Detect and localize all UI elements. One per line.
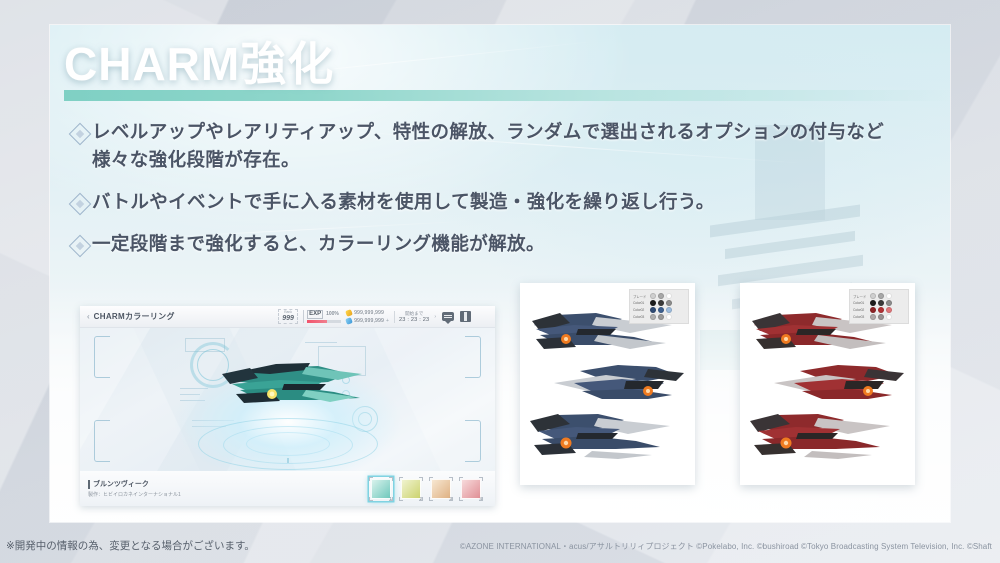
concept-card-blue: ブレード Color01 Color02 Color03 [520, 283, 695, 485]
game-ui-screenshot: ‹ CHARMカラーリング Rank 999 EXP 100% [80, 306, 495, 506]
header-status-group: Rank 999 EXP 100% 999,999,999 [278, 309, 490, 324]
rank-value: 999 [282, 315, 294, 322]
unit-info: ブルンツヴィーク 製作：ヒビイロカネインターナショナル1 [88, 479, 181, 498]
currency-value: 999,999,999 [354, 318, 384, 324]
palette-row: ブレード [853, 293, 905, 299]
palette-label: Color02 [633, 308, 648, 312]
palette-dot [650, 300, 656, 306]
palette-dot [666, 293, 672, 299]
chat-icon[interactable] [441, 311, 454, 322]
unit-accent-bar [88, 480, 90, 489]
palette-row: Color02 [853, 307, 905, 313]
palette-dot [886, 314, 892, 320]
hud-bracket [94, 420, 110, 462]
palette-label: Color03 [853, 315, 868, 319]
palette-dot [870, 314, 876, 320]
event-timer: 開始まで 23 : 23 : 23 [394, 311, 429, 323]
mech-render-red-mid [772, 361, 912, 409]
palette-dot [658, 314, 664, 320]
exp-meter: EXP 100% [303, 310, 341, 324]
game-header-bar: ‹ CHARMカラーリング Rank 999 EXP 100% [80, 306, 495, 328]
rank-badge: Rank 999 [278, 309, 298, 324]
hud-bracket [94, 336, 110, 378]
currency-group: 999,999,999 999,999,999 + [346, 310, 389, 324]
palette-dot [658, 293, 664, 299]
palette-row: ブレード [633, 293, 685, 299]
back-chevron-icon[interactable]: ‹ [87, 312, 90, 321]
palette-dot [870, 307, 876, 313]
swatch-number: 2 [419, 496, 422, 501]
palette-row: Color01 [633, 300, 685, 306]
mech-render-blue-bottom [526, 411, 674, 463]
list-item: 一定段階まで強化すると、カラーリング機能が解放。 [68, 230, 928, 258]
color-swatch[interactable]: 4 [459, 477, 483, 501]
list-item: レベルアップやレアリティアップ、特性の解放、ランダムで選出されるオプションの付与… [68, 118, 928, 174]
palette-row: Color01 [853, 300, 905, 306]
list-item: バトルやイベントで手に入る素材を使用して製造・強化を繰り返し行う。 [68, 188, 928, 216]
palette-row: Color03 [633, 314, 685, 320]
palette-label: ブレード [853, 294, 868, 299]
timer-value: 23 : 23 : 23 [399, 317, 429, 323]
palette-row: Color02 [633, 307, 685, 313]
hud-line [305, 342, 337, 343]
bullet-text: 一定段階まで強化すると、カラーリング機能が解放。 [92, 230, 545, 258]
bullet-text: レベルアップやレアリティアップ、特性の解放、ランダムで選出されるオプションの付与… [92, 118, 892, 174]
hud-tick [287, 458, 289, 463]
slide-panel: CHARM強化 レベルアップやレアリティアップ、特性の解放、ランダムで選出される… [50, 25, 950, 522]
color-swatch-row: 1 2 3 4 [369, 477, 487, 501]
diamond-bullet-icon [68, 192, 92, 216]
blue-gem-icon [345, 317, 353, 325]
diamond-bullet-icon [68, 234, 92, 258]
palette-legend: ブレード Color01 Color02 Color03 [849, 289, 909, 324]
palette-dot [878, 300, 884, 306]
color-swatch[interactable]: 3 [429, 477, 453, 501]
palette-dot [666, 307, 672, 313]
palette-dot [666, 314, 672, 320]
palette-dot [878, 314, 884, 320]
exp-percent: 100% [326, 311, 339, 317]
page-title: CHARM強化 [64, 40, 950, 88]
mech-render-blue-mid [552, 361, 692, 409]
palette-dot [886, 293, 892, 299]
color-swatch[interactable]: 1 [369, 477, 393, 501]
swatch-number: 4 [479, 496, 482, 501]
palette-label: Color02 [853, 308, 868, 312]
bullet-text: バトルやイベントで手に入る素材を使用して製造・強化を繰り返し行う。 [92, 188, 715, 216]
swatch-number: 3 [449, 496, 452, 501]
mech-render-red-bottom [746, 411, 894, 463]
currency-value: 999,999,999 [354, 310, 384, 316]
palette-legend: ブレード Color01 Color02 Color03 [629, 289, 689, 324]
palette-dot [886, 300, 892, 306]
hamburger-menu-icon[interactable] [477, 311, 490, 322]
timer-next-chevron-icon[interactable]: › [434, 314, 436, 320]
gold-coin-icon [345, 309, 353, 317]
palette-dot [666, 300, 672, 306]
exp-label: EXP [307, 310, 323, 320]
exp-progress-bar [307, 320, 341, 323]
currency-row: 999,999,999 + [346, 318, 389, 324]
title-block: CHARM強化 [64, 40, 950, 101]
palette-label: Color01 [853, 301, 868, 305]
palette-label: Color03 [633, 315, 648, 319]
currency-row: 999,999,999 [346, 310, 389, 316]
palette-dot [886, 307, 892, 313]
diamond-bullet-icon [68, 122, 92, 146]
unit-name: ブルンツヴィーク [93, 479, 149, 489]
concept-card-red: ブレード Color01 Color02 Color03 [740, 283, 915, 485]
palette-dot [878, 293, 884, 299]
color-swatch[interactable]: 2 [399, 477, 423, 501]
charm-weapon-model [210, 354, 370, 416]
platform-ring [246, 432, 330, 456]
palette-label: Color01 [633, 301, 648, 305]
palette-dot [650, 293, 656, 299]
palette-row: Color03 [853, 314, 905, 320]
add-currency-button[interactable]: + [386, 318, 389, 324]
hud-bracket [465, 420, 481, 462]
game-footer-bar: ブルンツヴィーク 製作：ヒビイロカネインターナショナル1 1 2 [80, 471, 495, 506]
palette-dot [650, 314, 656, 320]
copyright-text: ©AZONE INTERNATIONAL・acus/アサルトリリィプロジェクト … [460, 541, 992, 552]
mailbox-icon[interactable] [459, 311, 472, 322]
screen-title: CHARMカラーリング [94, 311, 175, 322]
game-preview-stage [80, 328, 495, 471]
palette-label: ブレード [633, 294, 648, 299]
palette-dot [870, 300, 876, 306]
palette-dot [658, 300, 664, 306]
palette-dot [650, 307, 656, 313]
palette-dot [870, 293, 876, 299]
unit-maker: 製作：ヒビイロカネインターナショナル1 [88, 491, 181, 498]
development-note: ※開発中の情報の為、変更となる場合がございます。 [6, 538, 255, 553]
bullet-list: レベルアップやレアリティアップ、特性の解放、ランダムで選出されるオプションの付与… [68, 118, 928, 272]
swatch-number: 1 [389, 496, 392, 501]
palette-dot [878, 307, 884, 313]
title-accent-bar [64, 90, 950, 101]
palette-dot [658, 307, 664, 313]
hud-bracket [465, 336, 481, 378]
